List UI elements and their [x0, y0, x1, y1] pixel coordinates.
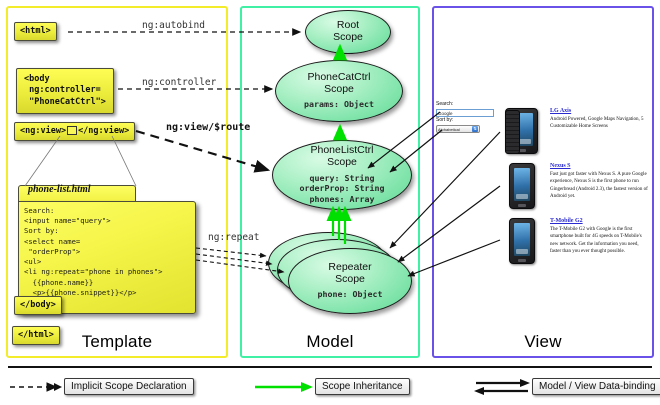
code-tag-body-close: </body> — [14, 296, 62, 315]
view-phone-item: Nexus S Fast just got faster with Nexus … — [505, 163, 653, 200]
chevron-down-icon: ⇅ — [472, 126, 478, 132]
view-sort-value: Alphabetical — [438, 127, 460, 132]
view-phone-item: LG Axis Android Powered, Google Maps Nav… — [505, 108, 653, 131]
view-sort-select[interactable]: Alphabetical ⇅ — [436, 125, 480, 133]
phone-info: LG Axis Android Powered, Google Maps Nav… — [550, 108, 650, 131]
phone-thumbnail-lg-axis — [505, 108, 538, 154]
device-body — [509, 163, 535, 209]
wire-label-ng-controller: ng:controller — [142, 77, 216, 88]
legend-label-databinding: Model / View Data-binding — [532, 378, 660, 395]
view-search-input[interactable]: Google — [436, 109, 494, 117]
scope-repeater-title-2: Scope — [335, 274, 365, 286]
device-keyboard — [505, 110, 520, 154]
phone-snippet: Android Powered, Google Maps Navigation,… — [550, 116, 650, 131]
code-tag-html-open: <html> — [14, 22, 57, 41]
legend-label-inheritance: Scope Inheritance — [315, 378, 410, 395]
legend-arrow-green-icon — [253, 380, 315, 394]
code-tag-ngview: <ng:view></ng:view> — [14, 122, 135, 141]
view-phone-item: T-Mobile G2 The T-Mobile G2 with Google … — [505, 218, 653, 255]
code-tag-html-close: </html> — [12, 326, 60, 345]
legend-item-implicit: Implicit Scope Declaration — [8, 378, 194, 395]
scope-repeater-stack: Repeater Scope phone: Object — [268, 232, 414, 316]
device-home-button — [518, 204, 526, 207]
column-label-view: View — [434, 332, 652, 352]
phone-list-note: phone-list.html Search: <input name="que… — [18, 185, 196, 314]
phone-name-link[interactable]: T-Mobile G2 — [550, 218, 650, 224]
legend-arrow-double-icon — [472, 379, 532, 395]
scope-phonelistctrl-title-2: Scope — [327, 157, 357, 169]
device-screen — [514, 223, 530, 256]
device-screen — [514, 168, 530, 201]
code-tag-body-open: <body ng:controller= "PhoneCatCtrl"> — [16, 68, 114, 114]
phone-thumbnail-t-mobile-g2 — [505, 218, 538, 264]
phone-thumbnail-nexus-s — [505, 163, 538, 209]
ngview-close-text: </ng:view> — [78, 126, 129, 136]
view-search-panel: Search: Google Sort by: Alphabetical ⇅ — [436, 101, 496, 133]
phone-snippet: Fast just got faster with Nexus S. A pur… — [550, 171, 650, 200]
wire-label-ng-autobind: ng:autobind — [142, 20, 205, 31]
legend-label-implicit: Implicit Scope Declaration — [64, 378, 194, 395]
legend-divider — [8, 366, 652, 368]
scope-phonelistctrl-props: query: String orderProp: String phones: … — [300, 173, 385, 205]
legend-item-inheritance: Scope Inheritance — [253, 378, 410, 395]
view-search-label: Search: — [436, 101, 496, 109]
scope-repeater-title-1: Repeater — [328, 262, 371, 274]
device-body — [509, 218, 535, 264]
legend-arrow-dashed-icon — [8, 380, 64, 394]
legend: Implicit Scope Declaration Scope Inherit… — [8, 378, 652, 398]
ngview-placeholder-icon — [67, 126, 77, 135]
scope-repeater: Repeater Scope phone: Object — [288, 248, 412, 314]
note-tab: phone-list.html — [18, 185, 136, 201]
scope-root: Root Scope — [305, 10, 391, 54]
wire-label-ng-repeat: ng:repeat — [208, 232, 259, 243]
legend-item-databinding: Model / View Data-binding — [472, 378, 660, 395]
phone-snippet: The T-Mobile G2 with Google is the first… — [550, 226, 650, 255]
scope-phonecatctrl-title-1: PhoneCatCtrl — [307, 72, 370, 84]
view-sort-label: Sort by: — [436, 117, 496, 125]
device-home-button — [518, 259, 526, 262]
phone-info: T-Mobile G2 The T-Mobile G2 with Google … — [550, 218, 650, 255]
phone-info: Nexus S Fast just got faster with Nexus … — [550, 163, 650, 200]
ngview-open-text: <ng:view> — [20, 126, 66, 136]
phone-name-link[interactable]: LG Axis — [550, 108, 650, 114]
wire-label-ng-view-route: ng:view/$route — [166, 122, 250, 133]
scope-repeater-props: phone: Object — [318, 289, 383, 300]
diagram-canvas: Template Model View <html> <body ng:cont… — [0, 0, 660, 405]
scope-phonecatctrl-props: params: Object — [304, 99, 374, 110]
column-label-model: Model — [242, 332, 418, 352]
scope-phonecatctrl-title-2: Scope — [324, 84, 354, 96]
scope-phonecatctrl: PhoneCatCtrl Scope params: Object — [275, 60, 403, 122]
scope-phonelistctrl: PhoneListCtrl Scope query: String orderP… — [272, 140, 412, 210]
note-title: phone-list.html — [28, 184, 91, 195]
scope-root-title-2: Scope — [333, 32, 363, 44]
phone-name-link[interactable]: Nexus S — [550, 163, 650, 169]
